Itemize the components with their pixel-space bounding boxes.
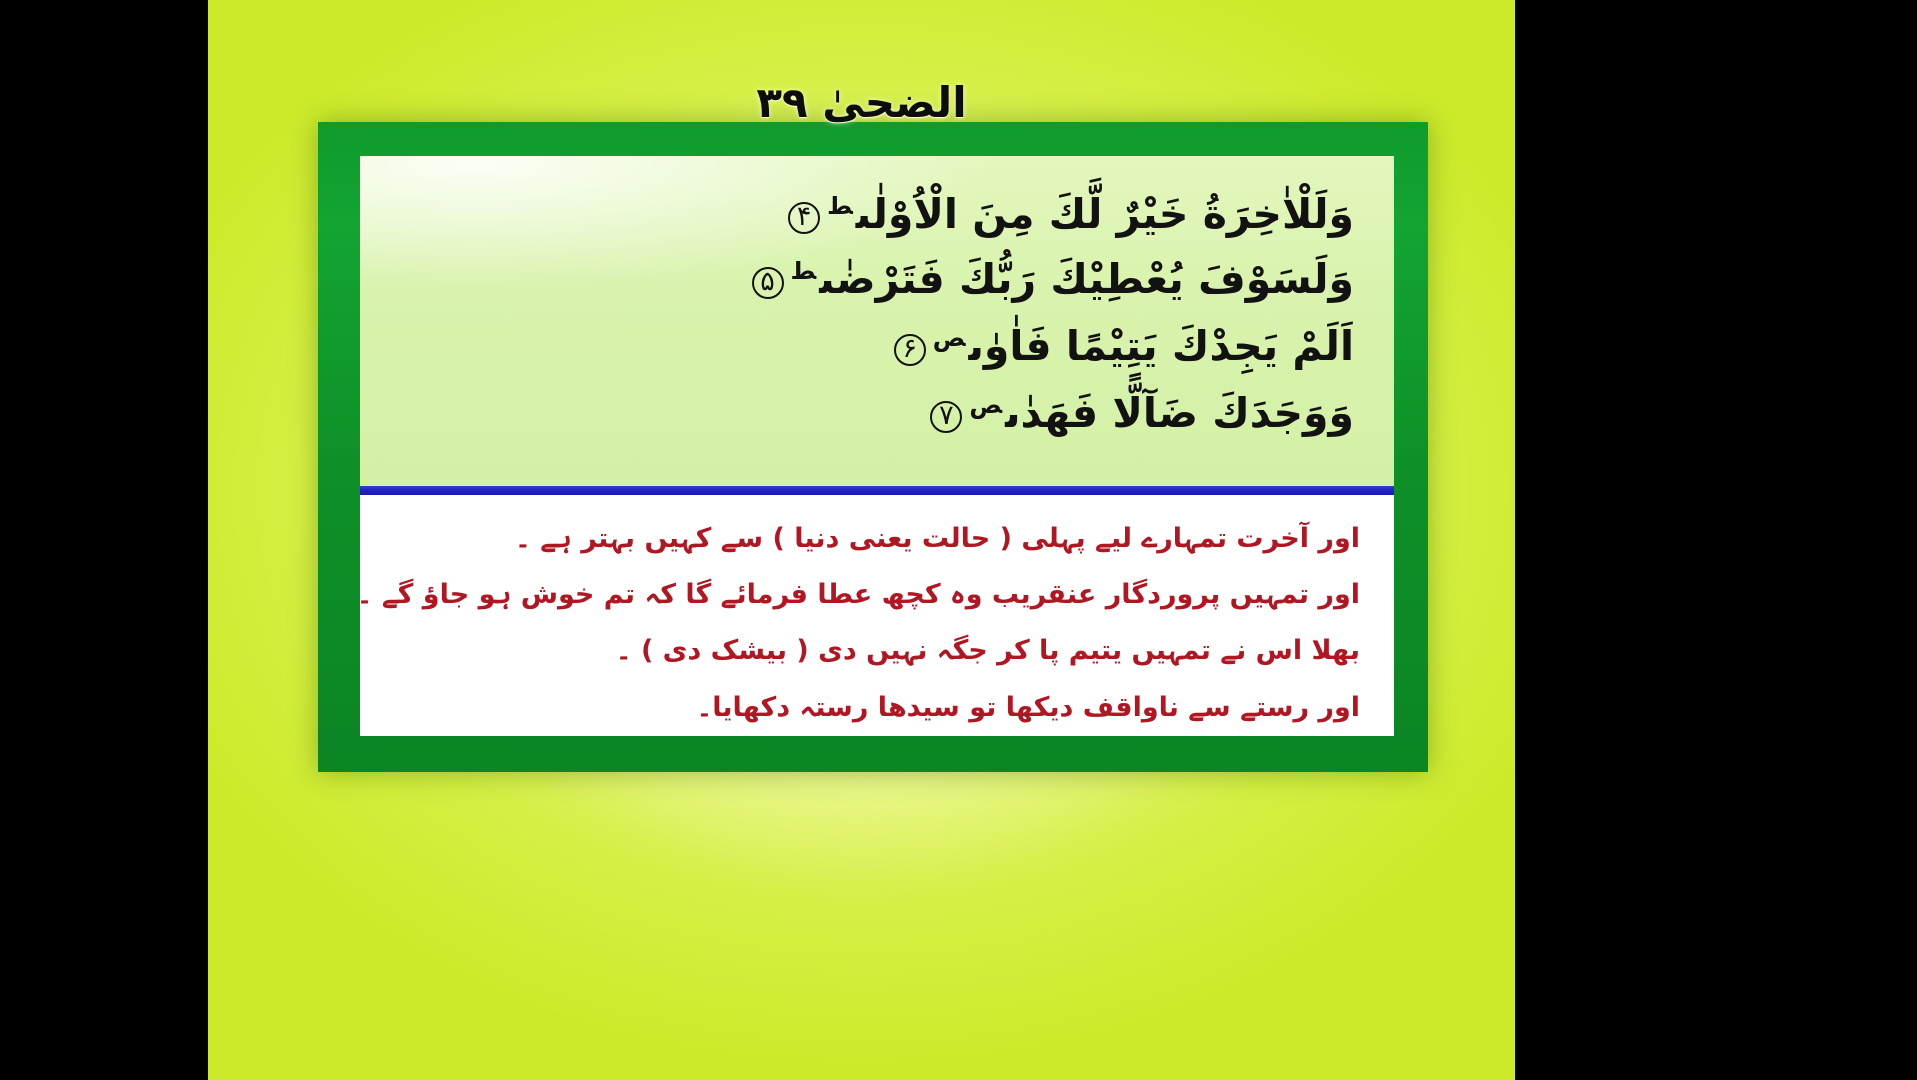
urdu-translation-line: اور تمہیں پروردگار عنقریب وہ کچھ عطا فرم…	[394, 581, 1360, 609]
arabic-verse-line: وَوَجَدَكَ ضَآلًّا فَهَدٰىص۷	[386, 393, 1368, 434]
ayah-number: ۶	[894, 334, 926, 366]
urdu-translation-panel: اور آخرت تمہارے لیے پہلی ( حالت یعنی دنی…	[360, 495, 1394, 736]
surah-title: الضحیٰ ۹۳	[208, 78, 1515, 127]
arabic-verse-text: وَلَلْاٰخِرَةُ خَيْرٌ لَّكَ مِنَ الْاُوْ…	[856, 190, 1354, 238]
section-divider	[360, 486, 1394, 495]
slide-stage: الضحیٰ ۹۳ وَلَلْاٰخِرَةُ خَيْرٌ لَّكَ مِ…	[208, 0, 1515, 1080]
arabic-verse-line: اَلَمْ يَجِدْكَ يَتِيْمًا فَاٰوٰىص۶	[386, 326, 1368, 367]
arabic-verse-line: وَلَسَوْفَ يُعْطِيْكَ رَبُّكَ فَتَرْضٰىط…	[386, 259, 1368, 300]
letterbox-right	[1515, 0, 1917, 1080]
arabic-verse-text: وَوَجَدَكَ ضَآلًّا فَهَدٰى	[1005, 389, 1354, 437]
urdu-translation-line: اور رستے سے ناواقف دیکھا تو سیدھا رستہ د…	[394, 694, 1360, 722]
waqf-mark: ط	[791, 257, 817, 285]
arabic-verses-panel: وَلَلْاٰخِرَةُ خَيْرٌ لَّكَ مِنَ الْاُوْ…	[360, 156, 1394, 486]
waqf-mark: ط	[827, 192, 853, 220]
waqf-mark: ص	[933, 324, 966, 352]
arabic-verse-text: اَلَمْ يَجِدْكَ يَتِيْمًا فَاٰوٰى	[969, 322, 1355, 370]
urdu-translation-line: بھلا اس نے تمہیں یتیم پا کر جگہ نہیں دی …	[394, 637, 1360, 665]
ayah-number: ۴	[788, 202, 820, 234]
ayah-number: ۵	[752, 267, 784, 299]
urdu-translation-line: اور آخرت تمہارے لیے پہلی ( حالت یعنی دنی…	[394, 525, 1360, 553]
verse-card-inner: وَلَلْاٰخِرَةُ خَيْرٌ لَّكَ مِنَ الْاُوْ…	[360, 156, 1394, 736]
letterbox-left	[0, 0, 208, 1080]
waqf-mark: ص	[969, 391, 1002, 419]
arabic-verse-text: وَلَسَوْفَ يُعْطِيْكَ رَبُّكَ فَتَرْضٰى	[819, 255, 1354, 303]
video-frame: الضحیٰ ۹۳ وَلَلْاٰخِرَةُ خَيْرٌ لَّكَ مِ…	[0, 0, 1917, 1080]
arabic-verse-line: وَلَلْاٰخِرَةُ خَيْرٌ لَّكَ مِنَ الْاُوْ…	[386, 194, 1368, 235]
ayah-number: ۷	[930, 401, 962, 433]
verse-card: وَلَلْاٰخِرَةُ خَيْرٌ لَّكَ مِنَ الْاُوْ…	[318, 122, 1428, 772]
